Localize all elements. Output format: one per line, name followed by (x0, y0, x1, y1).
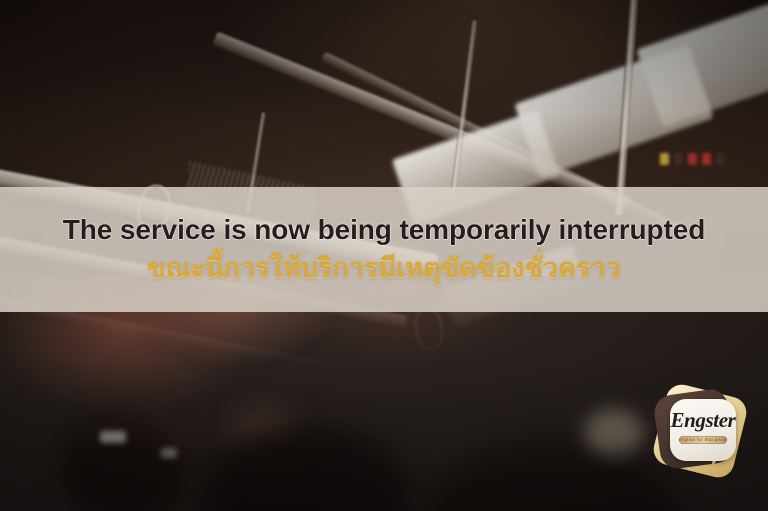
message-band: The service is now being temporarily int… (0, 187, 768, 312)
photo-specular-highlight (584, 410, 644, 456)
photo-passenger-silhouette (422, 440, 682, 511)
logo-wordmark: Engster (670, 408, 736, 433)
photo-specular-highlight (100, 431, 126, 443)
photo-indicator-light (688, 153, 697, 165)
photo-indicator-lights (660, 153, 740, 169)
photo-indicator-light (716, 153, 725, 165)
photo-indicator-light (702, 153, 711, 165)
photo-indicator-light (660, 153, 669, 165)
photo-specular-highlight (161, 448, 177, 458)
engster-logo[interactable]: Engster english for thai people (655, 386, 747, 478)
headline-thai: ขณะนี้การให้บริการมีเหตุขัดข้องชั่วคราว (147, 253, 621, 284)
photo-passenger-silhouette (61, 412, 191, 511)
logo-tagline: english for thai people (679, 436, 727, 444)
photo-indicator-light (674, 153, 683, 165)
service-interruption-banner: The service is now being temporarily int… (0, 0, 768, 511)
headline-english: The service is now being temporarily int… (63, 215, 705, 244)
